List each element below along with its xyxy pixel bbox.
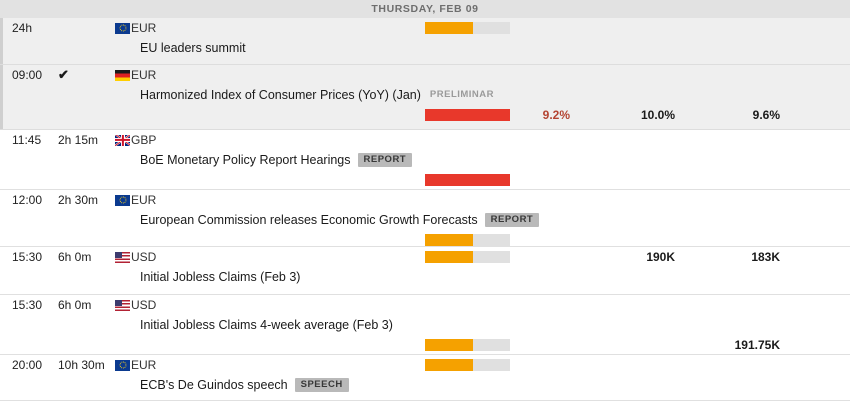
us-canton (115, 252, 122, 258)
event-name: EU leaders summit (140, 38, 246, 58)
value-forecast: 10.0% (595, 105, 675, 125)
event-currency[interactable]: EUR (115, 65, 156, 85)
eu-stars (119, 362, 126, 369)
value-actual: 9.2% (490, 105, 570, 125)
event-name-wrap[interactable]: Initial Jobless Claims (Feb 3) (140, 267, 300, 287)
event-currency[interactable]: EUR (115, 18, 156, 38)
event-badge: REPORT (358, 153, 413, 167)
table-row[interactable]: 09:00✔EURHarmonized Index of Consumer Pr… (0, 65, 850, 130)
event-name-wrap[interactable]: BoE Monetary Policy Report HearingsREPOR… (140, 150, 412, 170)
event-row-secondary-line: ECB's De Guindos speechSPEECH (0, 375, 850, 395)
currency-code: USD (131, 247, 156, 267)
event-countdown: 6h 0m (58, 247, 114, 267)
event-row-metrics-line: 191.75K (0, 335, 850, 355)
event-time: 24h (12, 18, 58, 38)
event-currency[interactable]: GBP (115, 130, 156, 150)
event-name-wrap[interactable]: EU leaders summit (140, 38, 246, 58)
value-previous: 191.75K (700, 335, 780, 355)
event-row-secondary-line: Initial Jobless Claims (Feb 3) (0, 267, 850, 287)
event-row-secondary-line: European Commission releases Economic Gr… (0, 210, 850, 230)
event-name: BoE Monetary Policy Report Hearings (140, 150, 351, 170)
event-currency[interactable]: USD (115, 247, 156, 267)
volatility-fill (425, 339, 473, 351)
event-row-primary-line: 15:306h 0mUSD190K183K (0, 247, 850, 267)
eu-stars (119, 197, 126, 204)
eu-stars (119, 25, 126, 32)
eu-flag-icon (115, 195, 130, 206)
volatility-fill (425, 174, 510, 186)
event-badge: PRELIMINAR (428, 88, 500, 102)
event-row-metrics-line (0, 170, 850, 190)
us-flag-icon (115, 252, 130, 263)
event-name: Initial Jobless Claims 4-week average (F… (140, 315, 393, 335)
table-row[interactable]: 11:452h 15mGBPBoE Monetary Policy Report… (0, 130, 850, 190)
event-time: 20:00 (12, 355, 58, 375)
event-row-primary-line: 11:452h 15mGBP (0, 130, 850, 150)
event-countdown: 2h 15m (58, 130, 114, 150)
event-countdown: 6h 0m (58, 295, 114, 315)
gb-flag-icon (115, 135, 130, 146)
value-previous: 183K (700, 247, 780, 267)
event-row-primary-line: 15:306h 0mUSD (0, 295, 850, 315)
economic-calendar: THURSDAY, FEB 09 24hEUREU leaders summit… (0, 0, 850, 401)
volatility-bar (425, 22, 510, 34)
event-currency[interactable]: EUR (115, 190, 156, 210)
volatility-fill (425, 251, 473, 263)
event-row-primary-line: 09:00✔EUR (0, 65, 850, 85)
us-canton (115, 300, 122, 306)
volatility-fill (425, 359, 473, 371)
event-row-metrics-line: 9.2%10.0%9.6% (0, 105, 850, 125)
event-row-primary-line: 12:002h 30mEUR (0, 190, 850, 210)
eu-flag-icon (115, 23, 130, 34)
currency-code: EUR (131, 190, 156, 210)
value-forecast: 190K (595, 247, 675, 267)
event-name-wrap[interactable]: ECB's De Guindos speechSPEECH (140, 375, 349, 395)
currency-code: EUR (131, 355, 156, 375)
volatility-bar (425, 234, 510, 246)
table-row[interactable]: 15:306h 0mUSD190K183KInitial Jobless Cla… (0, 247, 850, 295)
event-name-wrap[interactable]: Harmonized Index of Consumer Prices (YoY… (140, 85, 500, 105)
currency-code: EUR (131, 65, 156, 85)
value-previous: 9.6% (700, 105, 780, 125)
event-row-secondary-line: EU leaders summit (0, 38, 850, 58)
event-row-secondary-line: BoE Monetary Policy Report HearingsREPOR… (0, 150, 850, 170)
event-badge: REPORT (485, 213, 540, 227)
event-currency[interactable]: EUR (115, 355, 156, 375)
volatility-bar (425, 359, 510, 371)
date-header: THURSDAY, FEB 09 (0, 0, 850, 18)
table-row[interactable]: 12:002h 30mEUREuropean Commission releas… (0, 190, 850, 247)
event-badge: SPEECH (295, 378, 349, 392)
table-row[interactable]: 15:306h 0mUSDInitial Jobless Claims 4-we… (0, 295, 850, 355)
volatility-bar (425, 339, 510, 351)
released-check-icon: ✔ (58, 65, 69, 85)
event-name: ECB's De Guindos speech (140, 375, 288, 395)
us-flag-icon (115, 300, 130, 311)
event-name-wrap[interactable]: Initial Jobless Claims 4-week average (F… (140, 315, 393, 335)
volatility-bar (425, 174, 510, 186)
event-name: Harmonized Index of Consumer Prices (YoY… (140, 85, 421, 105)
volatility-bar (425, 251, 510, 263)
event-time: 11:45 (12, 130, 58, 150)
event-row-secondary-line: Initial Jobless Claims 4-week average (F… (0, 315, 850, 335)
event-name-wrap[interactable]: European Commission releases Economic Gr… (140, 210, 539, 230)
event-time: 15:30 (12, 247, 58, 267)
event-name: Initial Jobless Claims (Feb 3) (140, 267, 300, 287)
event-time: 15:30 (12, 295, 58, 315)
event-name: European Commission releases Economic Gr… (140, 210, 478, 230)
currency-code: GBP (131, 130, 156, 150)
date-header-label: THURSDAY, FEB 09 (371, 3, 478, 15)
eu-flag-icon (115, 360, 130, 371)
event-countdown: 2h 30m (58, 190, 114, 210)
event-countdown: 10h 30m (58, 355, 114, 375)
event-list: 24hEUREU leaders summit09:00✔EURHarmoniz… (0, 18, 850, 401)
event-row-secondary-line: Harmonized Index of Consumer Prices (YoY… (0, 85, 850, 105)
event-row-primary-line: 20:0010h 30mEUR (0, 355, 850, 375)
volatility-fill (425, 22, 473, 34)
table-row[interactable]: 24hEUREU leaders summit (0, 18, 850, 65)
event-row-primary-line: 24hEUR (0, 18, 850, 38)
event-currency[interactable]: USD (115, 295, 156, 315)
currency-code: EUR (131, 18, 156, 38)
event-time: 09:00 (12, 65, 58, 85)
event-time: 12:00 (12, 190, 58, 210)
currency-code: USD (131, 295, 156, 315)
table-row[interactable]: 20:0010h 30mEURECB's De Guindos speechSP… (0, 355, 850, 401)
volatility-fill (425, 234, 473, 246)
de-flag-icon (115, 70, 130, 81)
